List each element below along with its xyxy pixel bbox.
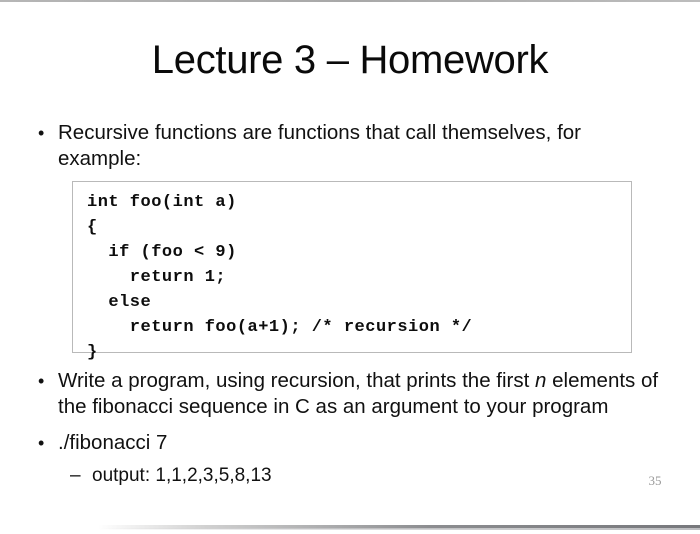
list-item: • ./fibonacci 7	[38, 430, 438, 456]
list-item: • Write a program, using recursion, that…	[38, 368, 678, 420]
list-item-text-part-1: Write a program, using recursion, that p…	[58, 369, 535, 392]
slide-canvas: Lecture 3 – Homework • Recursive functio…	[0, 0, 700, 534]
code-block-text: int foo(int a) { if (foo < 9) return 1; …	[73, 182, 631, 365]
bullet-marker-icon: •	[38, 430, 58, 456]
bullet-marker-icon: •	[38, 368, 58, 394]
code-block: int foo(int a) { if (foo < 9) return 1; …	[72, 181, 632, 353]
dash-marker-icon: –	[70, 463, 92, 489]
list-item-text: Recursive functions are functions that c…	[58, 120, 658, 172]
bullet-marker-icon: •	[38, 120, 58, 146]
list-item-text: Write a program, using recursion, that p…	[58, 368, 678, 420]
page-number: 35	[640, 473, 670, 489]
sub-list-item: – output: 1,1,2,3,5,8,13	[70, 463, 490, 489]
bottom-divider-highlight	[98, 528, 700, 530]
sub-list-item-text: output: 1,1,2,3,5,8,13	[92, 463, 490, 489]
list-item: • Recursive functions are functions that…	[38, 120, 658, 172]
list-item-italic-variable: n	[535, 369, 546, 392]
list-item-text: ./fibonacci 7	[58, 430, 438, 456]
